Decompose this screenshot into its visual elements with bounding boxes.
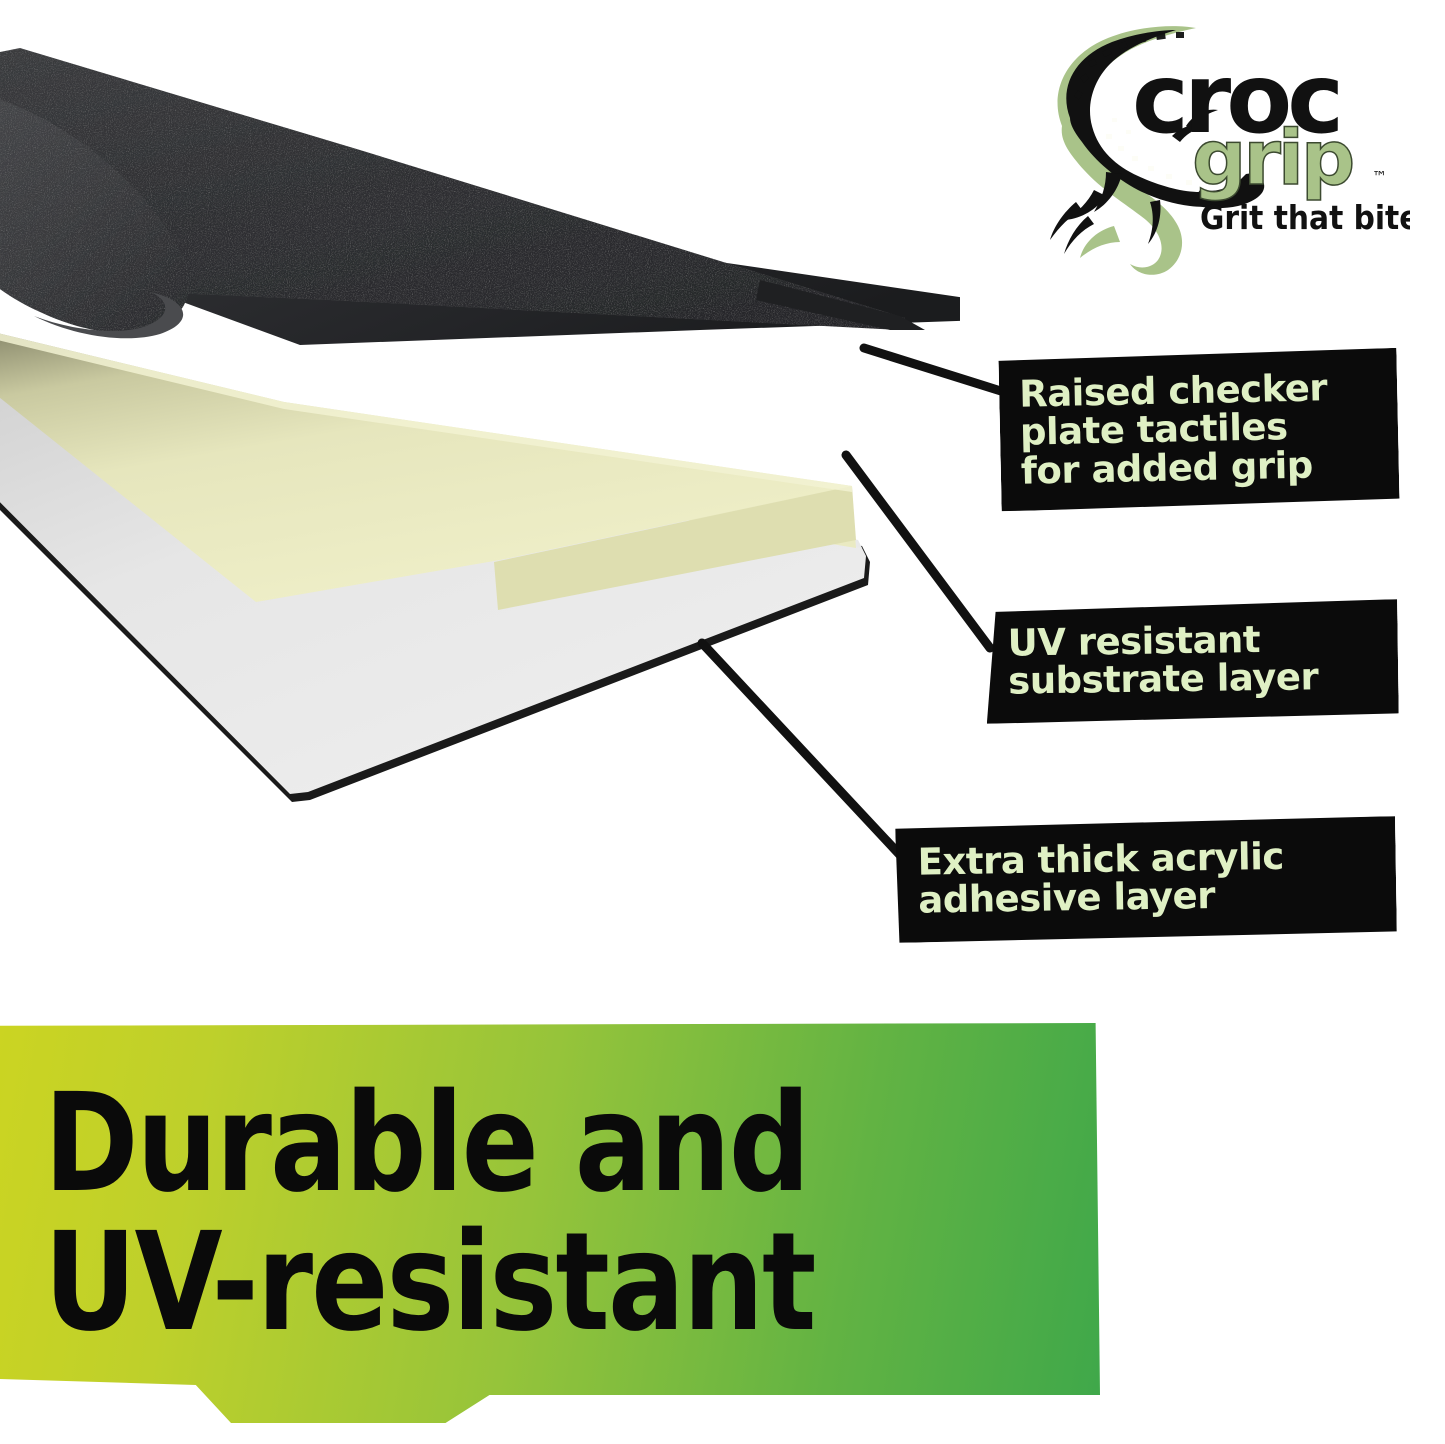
callout-1-line-3: for added grip — [1020, 445, 1381, 491]
callout-acrylic-adhesive: Extra thick acrylic adhesive layer — [895, 816, 1397, 943]
banner-line-1: Durable and — [44, 1075, 815, 1214]
trademark-symbol: ™ — [1372, 168, 1387, 186]
banner-headline: Durable and UV-resistant — [44, 1075, 815, 1352]
callout-2-line-2: substrate layer — [1008, 658, 1383, 702]
croc-grip-logo: croc grip ™ Grit that bites! — [1010, 14, 1410, 304]
logo-tagline: Grit that bites! — [1200, 198, 1410, 237]
product-layer-illustration — [0, 0, 960, 900]
callout-3-line-2: adhesive layer — [918, 875, 1379, 921]
product-feature-graphic: croc grip ™ Grit that bites! Raised chec… — [0, 0, 1445, 1444]
callout-raised-checker-plate: Raised checker plate tactiles for added … — [998, 348, 1399, 512]
top-grip-layer — [0, 48, 960, 345]
logo-word-grip: grip — [1192, 113, 1352, 202]
feature-banner: Durable and UV-resistant — [0, 1023, 1100, 1423]
callout-uv-resistant-substrate: UV resistant substrate layer — [985, 599, 1399, 724]
banner-line-2: UV-resistant — [44, 1214, 815, 1353]
